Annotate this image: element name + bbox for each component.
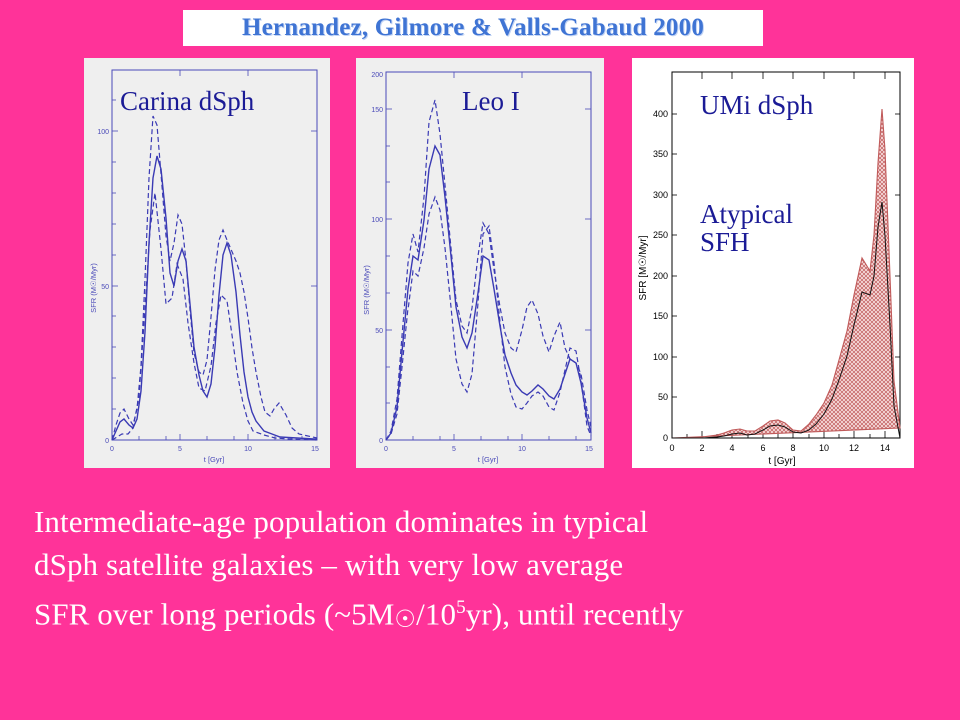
svg-text:SFR (M☉/Myr): SFR (M☉/Myr) [362,265,371,315]
svg-text:0: 0 [105,438,109,445]
caption-line-3-b: /10 [416,596,456,631]
slide-caption: Intermediate-age population dominates in… [34,500,934,641]
charts-row: 05 1015 050100 t [Gyr] SFR (M☉/Myr) [0,58,960,470]
svg-text:0: 0 [669,443,674,453]
svg-text:8: 8 [790,443,795,453]
leo-curves [386,100,591,440]
svg-text:2: 2 [699,443,704,453]
title-banner: Hernandez, Gilmore & Valls-Gabaud 2000 [183,10,763,46]
svg-text:400: 400 [653,109,668,119]
carina-axes: 05 1015 050100 t [Gyr] SFR (M☉/Myr) [89,70,319,464]
svg-text:250: 250 [653,230,668,240]
svg-text:12: 12 [849,443,859,453]
svg-text:10: 10 [244,446,252,453]
svg-text:t [Gyr]: t [Gyr] [478,455,498,464]
svg-text:0: 0 [384,446,388,453]
caption-line-2: dSph satellite galaxies – with very low … [34,543,934,586]
chart-panel-umi: 024 6810 1214 050100 150200250 300350400… [632,58,914,468]
svg-text:5: 5 [178,446,182,453]
carina-plot: 05 1015 050100 t [Gyr] SFR (M☉/Myr) [84,58,330,468]
leo-plot: 05 1015 050 100150200 t [Gyr] SFR (M☉/My… [356,58,604,468]
svg-text:150: 150 [653,311,668,321]
caption-line-1: Intermediate-age population dominates in… [34,500,934,543]
svg-text:t [Gyr]: t [Gyr] [768,456,795,467]
carina-curves [112,116,317,440]
svg-text:4: 4 [729,443,734,453]
presentation-title: Hernandez, Gilmore & Valls-Gabaud 2000 [242,14,704,42]
caption-exponent: 5 [456,597,466,618]
svg-text:100: 100 [653,352,668,362]
svg-text:SFR (M☉/Myr): SFR (M☉/Myr) [89,263,98,313]
svg-text:t [Gyr]: t [Gyr] [204,455,224,464]
svg-text:50: 50 [375,328,383,335]
svg-text:SFR [M☉/Myr]: SFR [M☉/Myr] [638,235,649,300]
svg-text:15: 15 [311,446,319,453]
svg-text:0: 0 [379,438,383,445]
umi-band [672,109,900,438]
caption-line-3-c: yr), until recently [466,596,684,631]
svg-text:5: 5 [452,446,456,453]
svg-text:100: 100 [97,129,109,136]
svg-text:50: 50 [101,284,109,291]
svg-text:150: 150 [371,107,383,114]
svg-text:200: 200 [653,271,668,281]
caption-line-3-a: SFR over long periods (~5M [34,596,394,631]
svg-text:50: 50 [658,392,668,402]
svg-text:6: 6 [760,443,765,453]
svg-text:15: 15 [585,446,593,453]
svg-text:100: 100 [371,217,383,224]
sun-symbol-icon: ☉ [394,606,416,633]
svg-text:350: 350 [653,149,668,159]
svg-text:10: 10 [518,446,526,453]
chart-panel-leo: 05 1015 050 100150200 t [Gyr] SFR (M☉/My… [356,58,604,468]
svg-text:14: 14 [880,443,890,453]
svg-text:300: 300 [653,190,668,200]
svg-text:0: 0 [663,433,668,443]
umi-plot: 024 6810 1214 050100 150200250 300350400… [632,58,914,468]
svg-text:200: 200 [371,72,383,79]
svg-text:10: 10 [819,443,829,453]
caption-line-3: SFR over long periods (~5M☉/105yr), unti… [34,586,934,641]
svg-text:0: 0 [110,446,114,453]
chart-panel-carina: 05 1015 050100 t [Gyr] SFR (M☉/Myr) [84,58,330,468]
